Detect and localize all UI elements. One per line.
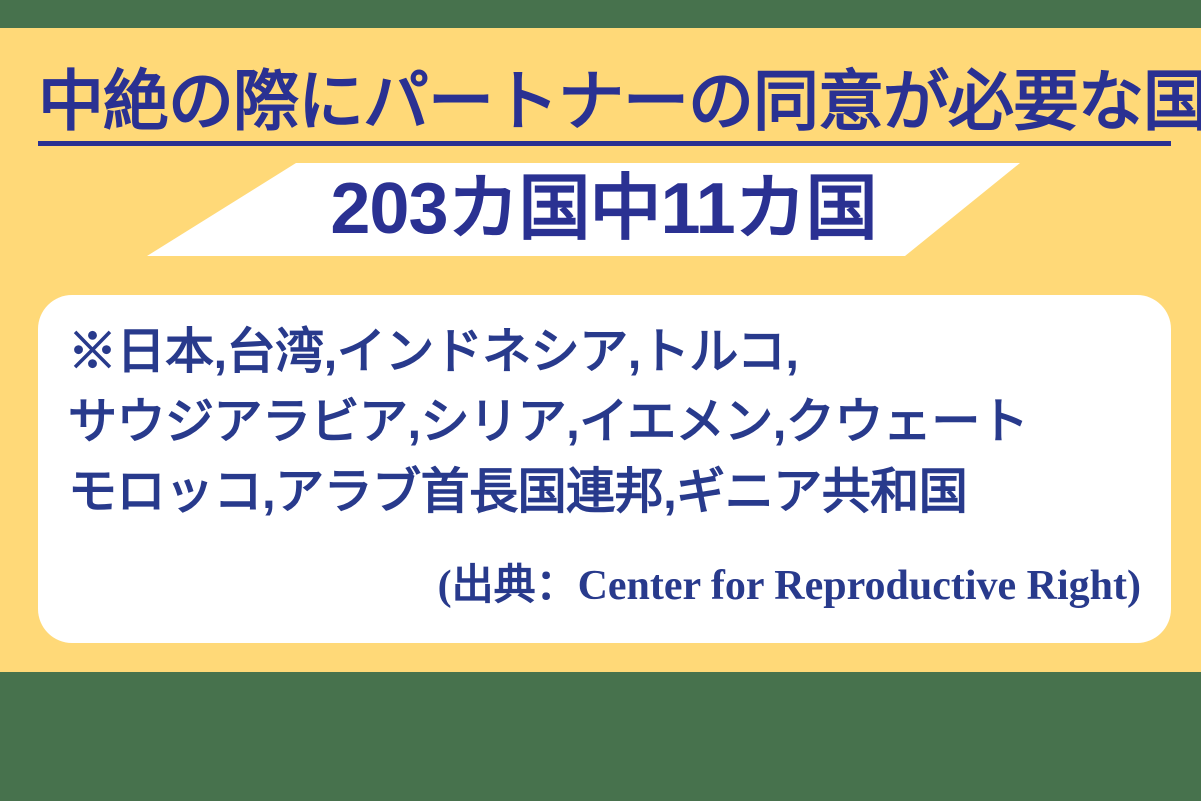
list-item: サウジアラビア,シリア,イエメン,クウェート [68, 387, 1158, 457]
source-citation: (出典：Center for Reproductive Right) [438, 561, 1141, 611]
list-item: モロッコ,アラブ首長国連邦,ギニア共和国 [68, 457, 1158, 527]
title-underline-rule [38, 141, 1171, 146]
country-list: ※日本,台湾,インドネシア,トルコ, サウジアラビア,シリア,イエメン,クウェー… [68, 317, 1158, 527]
country-list-card: ※日本,台湾,インドネシア,トルコ, サウジアラビア,シリア,イエメン,クウェー… [38, 295, 1171, 643]
list-item: ※日本,台湾,インドネシア,トルコ, [68, 317, 1158, 387]
infographic-canvas: 中絶の際にパートナーの同意が必要な国は 203カ国中11カ国 ※日本,台湾,イン… [0, 0, 1201, 801]
statistic-banner: 203カ国中11カ国 [0, 163, 1201, 256]
page-title: 中絶の際にパートナーの同意が必要な国は [38, 58, 1172, 144]
statistic-banner-label: 203カ国中11カ国 [0, 163, 1201, 256]
